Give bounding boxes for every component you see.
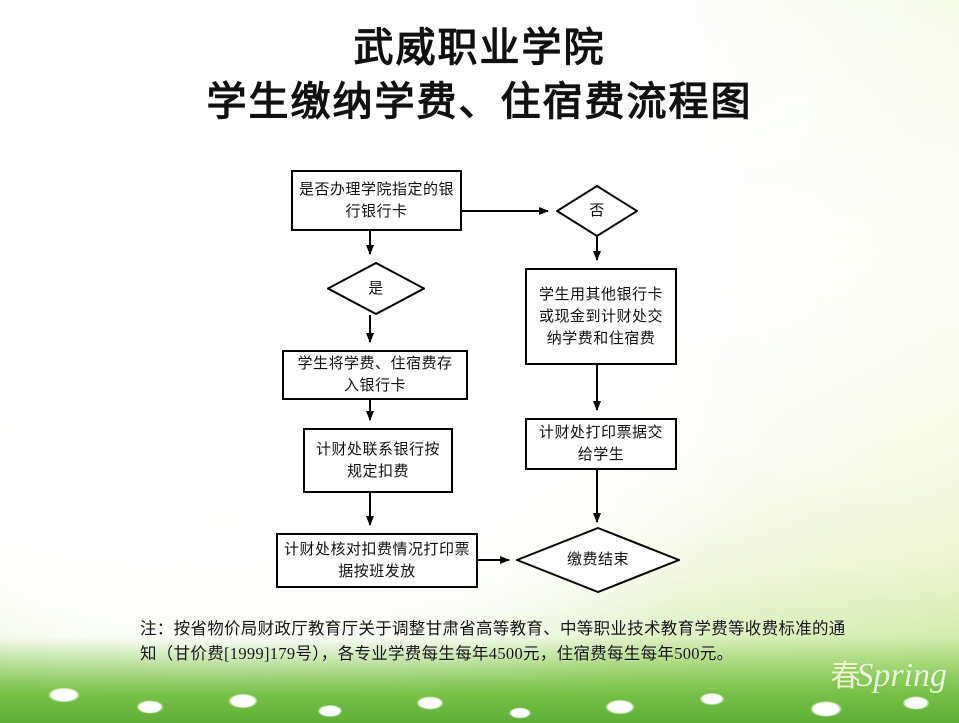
- flow-node-verify-and-issue[interactable]: 计财处核对扣费情况打印票据按班发放: [276, 533, 478, 588]
- flow-node-start-decision[interactable]: 是否办理学院指定的银行银行卡: [291, 170, 462, 231]
- flow-node-other-payment[interactable]: 学生用其他银行卡或现金到计财处交纳学费和住宿费: [525, 268, 677, 365]
- flow-node-deposit-to-card[interactable]: 学生将学费、住宿费存入银行卡: [282, 350, 468, 400]
- flow-node-other-payment-label: 学生用其他银行卡或现金到计财处交纳学费和住宿费: [527, 284, 675, 350]
- slide-canvas: 武威职业学院 学生缴纳学费、住宿费流程图: [0, 0, 959, 723]
- flow-node-bank-deduct-label: 计财处联系银行按规定扣费: [305, 439, 451, 483]
- flow-node-deposit-to-card-label: 学生将学费、住宿费存入银行卡: [284, 353, 466, 397]
- flow-node-yes-branch[interactable]: 是: [327, 262, 425, 315]
- flow-node-bank-deduct[interactable]: 计财处联系银行按规定扣费: [303, 428, 453, 493]
- flow-node-print-receipt-student[interactable]: 计财处打印票据交给学生: [525, 418, 677, 470]
- watermark: 春Spring: [830, 651, 947, 695]
- flow-node-payment-end-label: 缴费结束: [556, 549, 640, 571]
- footnote: 注：按省物价局财政厅教育厅关于调整甘肃省高等教育、中等职业技术教育学费等收费标准…: [140, 616, 852, 666]
- flow-node-start-decision-label: 是否办理学院指定的银行银行卡: [293, 179, 460, 223]
- flow-node-verify-and-issue-label: 计财处核对扣费情况打印票据按班发放: [278, 539, 476, 583]
- flow-node-yes-branch-label: 是: [358, 278, 394, 300]
- flow-node-no-branch-label: 否: [579, 200, 615, 222]
- watermark-en-label: Spring: [856, 657, 947, 694]
- flow-node-print-receipt-student-label: 计财处打印票据交给学生: [527, 422, 675, 466]
- flow-connectors: [0, 0, 959, 723]
- flow-node-no-branch[interactable]: 否: [556, 185, 638, 237]
- flow-node-payment-end[interactable]: 缴费结束: [516, 527, 680, 593]
